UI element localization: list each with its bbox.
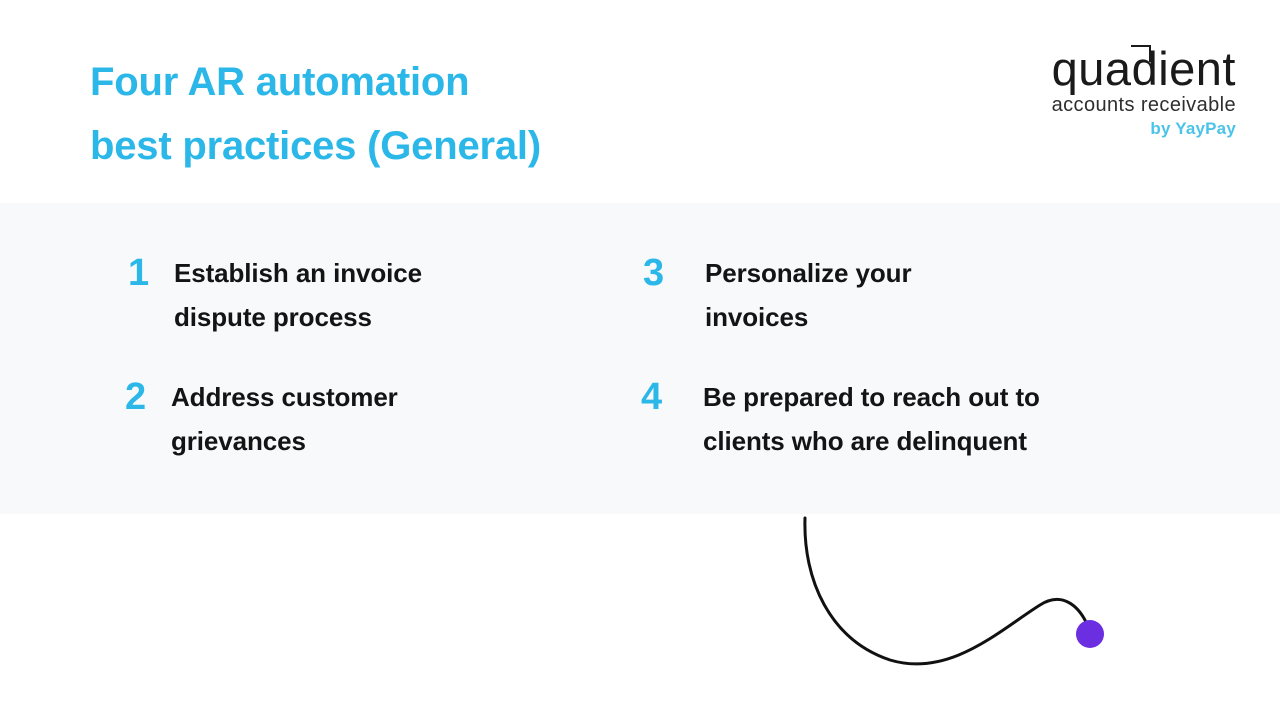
quadient-logo: quadient accounts receivable by YayPay	[991, 42, 1236, 146]
logo-bracket-icon	[1131, 45, 1151, 62]
logo-byline: by YayPay	[991, 118, 1236, 139]
practice-text-3: Personalize your invoices	[705, 251, 1163, 339]
practice-text-3-line-1: Personalize your	[705, 258, 911, 288]
decorative-curve-path	[805, 518, 1086, 664]
page-title: Four AR automation best practices (Gener…	[90, 50, 750, 178]
practice-item-1: 1 Establish an invoice dispute process	[128, 251, 598, 339]
practice-text-1-line-1: Establish an invoice	[174, 258, 422, 288]
practice-text-2-line-2: grievances	[171, 426, 306, 456]
practice-number-2: 2	[125, 375, 171, 419]
practice-number-3: 3	[643, 251, 705, 295]
decorative-dot	[1076, 620, 1104, 648]
logo-wordmark: quadient	[991, 42, 1236, 96]
practice-text-2: Address customer grievances	[171, 375, 595, 463]
practice-number-1: 1	[128, 251, 174, 295]
slide-header: Four AR automation best practices (Gener…	[0, 0, 1280, 203]
practice-number-4: 4	[641, 375, 703, 419]
practice-item-4: 4 Be prepared to reach out to clients wh…	[641, 375, 1181, 463]
practice-text-4-line-2: clients who are delinquent	[703, 426, 1027, 456]
page-title-line-2: best practices (General)	[90, 114, 750, 178]
practice-item-3: 3 Personalize your invoices	[643, 251, 1163, 339]
practice-item-2: 2 Address customer grievances	[125, 375, 595, 463]
practice-text-1-line-2: dispute process	[174, 302, 372, 332]
practices-band	[0, 203, 1280, 514]
page-title-line-1: Four AR automation	[90, 50, 750, 114]
practice-text-1: Establish an invoice dispute process	[174, 251, 598, 339]
practice-text-3-line-2: invoices	[705, 302, 808, 332]
slide-root: Four AR automation best practices (Gener…	[0, 0, 1280, 720]
practice-text-4: Be prepared to reach out to clients who …	[703, 375, 1181, 463]
logo-subtitle: accounts receivable	[991, 93, 1236, 117]
practice-text-2-line-1: Address customer	[171, 382, 398, 412]
practice-text-4-line-1: Be prepared to reach out to	[703, 382, 1040, 412]
